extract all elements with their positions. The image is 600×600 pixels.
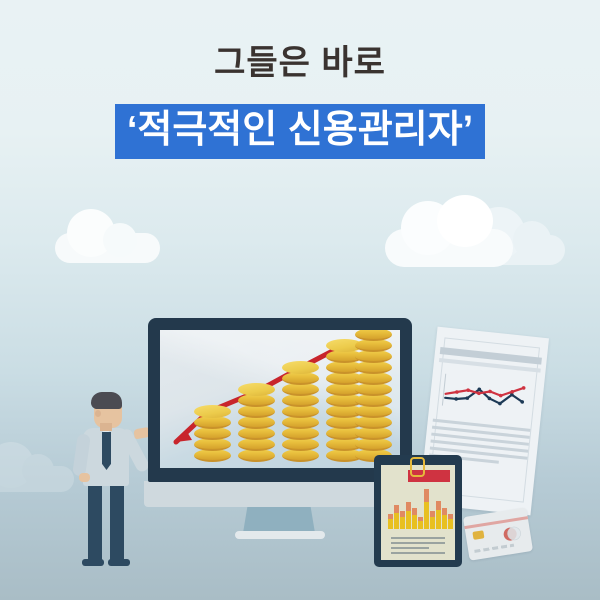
clipboard-bar	[424, 489, 429, 529]
person-neck	[100, 423, 112, 431]
credit-card-chip-icon	[472, 530, 484, 540]
clipboard-bar	[400, 511, 405, 529]
clipboard-bar	[388, 514, 393, 529]
monitor-stand-neck	[243, 507, 315, 533]
coin-stack-3	[282, 356, 319, 462]
credit-card	[463, 507, 533, 560]
person-leg-right	[110, 482, 124, 564]
clipboard-bar	[406, 502, 411, 529]
person-leg-left	[88, 482, 102, 564]
clipboard-bar	[448, 514, 453, 529]
clipboard-bar	[394, 505, 399, 529]
headline-line-2-highlight: ‘적극적인 신용관리자’	[115, 104, 485, 159]
clipboard-bar	[436, 501, 441, 529]
coin-stack-2	[238, 378, 275, 462]
clipboard-paper	[381, 465, 455, 560]
cloud-left	[55, 205, 160, 263]
clipboard-text-line	[391, 552, 445, 554]
cloud-right-back	[455, 205, 565, 265]
person-ear	[95, 410, 101, 417]
clipboard-text-line	[391, 547, 429, 549]
clipboard-text-line	[391, 537, 445, 539]
poster-canvas: 그들은 바로 ‘적극적인 신용관리자’	[0, 0, 600, 600]
clipboard-bar	[418, 517, 423, 529]
monitor-stand-foot	[235, 531, 325, 539]
headline-line-1: 그들은 바로	[0, 44, 600, 83]
credit-card-logo-icon	[502, 523, 523, 544]
person-hand-left	[79, 473, 90, 482]
credit-card-number	[474, 544, 514, 553]
cloud-bottom-left	[0, 440, 74, 492]
clipboard-bar	[412, 508, 417, 529]
clipboard-text-line	[391, 542, 445, 544]
businessman-figure	[70, 390, 146, 570]
clipboard-column-chart	[388, 487, 450, 529]
desktop-monitor	[148, 318, 412, 482]
clipboard-bar	[430, 511, 435, 529]
coin-stack-1	[194, 400, 231, 462]
clipboard-report	[374, 455, 462, 567]
coin-stack-5	[355, 330, 392, 462]
person-tie	[102, 432, 111, 470]
clipboard-clip-icon	[410, 457, 425, 477]
clipboard-bar	[442, 508, 447, 529]
monitor-screen	[160, 330, 400, 468]
person-shoe-left	[82, 559, 104, 566]
cloud-right-front	[385, 195, 513, 267]
headline-highlight-wrapper: ‘적극적인 신용관리자’	[0, 104, 600, 159]
person-hair	[91, 392, 122, 409]
credit-card-body	[463, 507, 533, 560]
person-shoe-right	[108, 559, 130, 566]
